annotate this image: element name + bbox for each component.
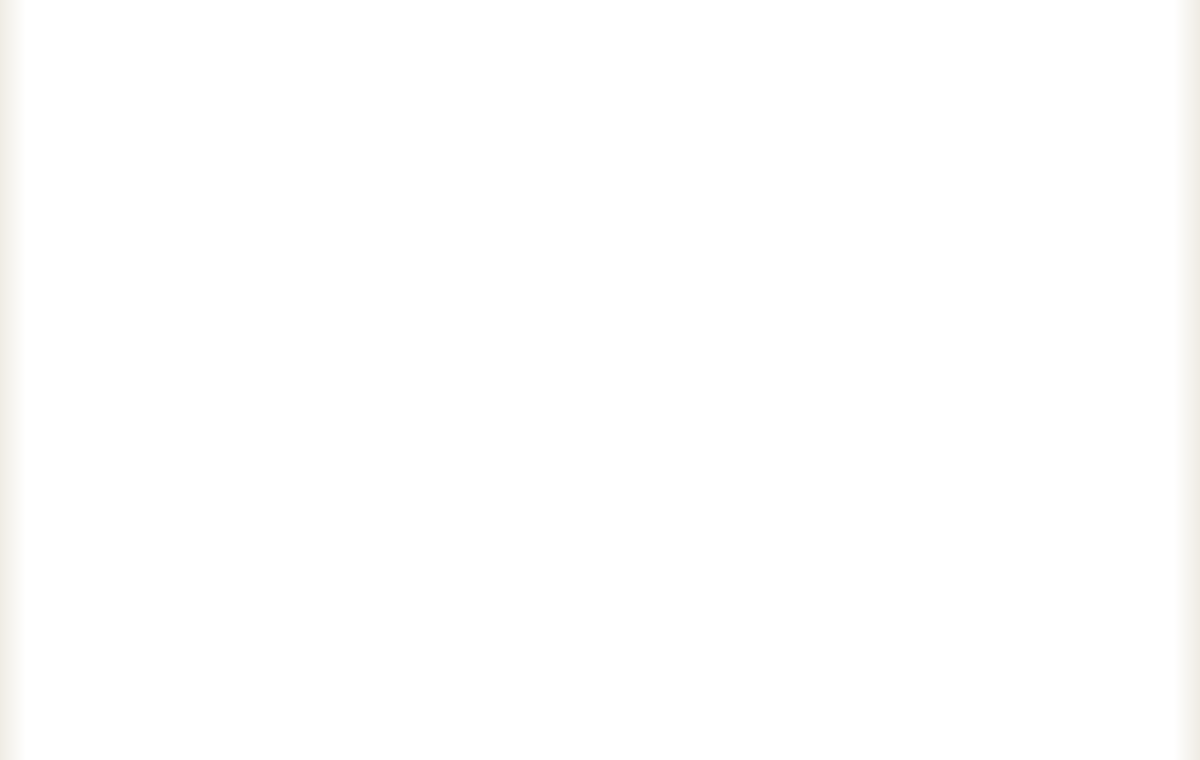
list-item-text: Jintong specialized display LCD splicing… [827, 663, 1138, 700]
lcd-video-wall-photo: Jint 金瞳 [800, 172, 1200, 435]
list-item: ·Comprehensive after-sales service and o… [822, 617, 1194, 660]
list-item: ·Professional service, one-on-one custom… [822, 530, 1194, 573]
section-01-title: A complete production system [101, 473, 342, 508]
page-root: WHY CHOOSE ? Why choose gold contact len… [0, 0, 1200, 760]
header-choose-text: CHOOSE [594, 44, 808, 92]
section-03-panel: 03 Advantages of Jintong Specialized Dis… [800, 435, 1200, 705]
section-02-body: Samsung and LG LCD splicing screens, qua… [448, 269, 758, 429]
video-wall-screens: Jint 金瞳 [828, 192, 1170, 396]
section-03-number: 03 [846, 473, 893, 513]
assembly-photo [400, 619, 532, 705]
section-01-panel: 01 A complete production system A comple… [0, 435, 400, 705]
assembly-photo [534, 531, 666, 617]
page-header: WHY CHOOSE ? Why choose gold contact len… [0, 0, 1200, 172]
assembly-photo [668, 443, 800, 529]
section-02-panel: 02 Jintong specializes in showcasing bra… [400, 172, 800, 435]
bottom-divider [0, 705, 1200, 706]
factory-assembly-line-photo [0, 172, 400, 435]
section-03-bullet-list: ·Professional service, one-on-one custom… [822, 530, 1194, 705]
header-why-text: WHY [336, 34, 530, 116]
wall-tile: Jint金瞳 [1069, 286, 1200, 374]
section-03-heading: 03 Advantages of Jintong Specialized Dis… [846, 473, 1175, 519]
assembly-photo [534, 619, 666, 705]
section-02-number: 02 [448, 210, 495, 250]
assembly-photo [668, 619, 800, 705]
video-wall-logo-cjk: 金瞳 [962, 265, 1020, 307]
bottom-whitespace [0, 706, 1200, 760]
list-item: ·Jintong specialized display LCD splicin… [822, 661, 1194, 704]
section-02-title: Jintong specializes in showcasing brand … [505, 210, 767, 256]
list-item: ·We have long-term cooperative logistics… [822, 574, 1194, 617]
header-subtitle: Why choose gold contact lenses [552, 101, 814, 120]
section-01-number: 01 [44, 473, 91, 513]
list-item-text: We have long-term cooperative logistics … [827, 576, 1171, 613]
section-02-heading: 02 Jintong specializes in showcasing bra… [448, 210, 767, 256]
section-01-body: A complete production system covering pr… [44, 538, 349, 652]
video-wall-logo-text: Jint [906, 267, 959, 306]
section-03-title: Advantages of Jintong Specialized Displa… [903, 473, 1175, 519]
assembly-photo [400, 443, 532, 529]
header-question-mark: ? [824, 44, 864, 110]
list-item-text: Comprehensive after-sales service and on… [827, 619, 1159, 656]
jint-eye-icon [863, 263, 910, 310]
video-wall-brand-logo: Jint 金瞳 [863, 262, 1021, 310]
wall-tile: Jint金瞳 [1069, 196, 1200, 285]
assembly-photo [400, 531, 532, 617]
assembly-process-photo-grid [400, 443, 800, 705]
assembly-photo [534, 443, 666, 529]
assembly-photo [668, 531, 800, 617]
section-01-heading: 01 A complete production system [44, 473, 341, 513]
list-item-text: Professional service, one-on-one custome… [827, 532, 1155, 569]
